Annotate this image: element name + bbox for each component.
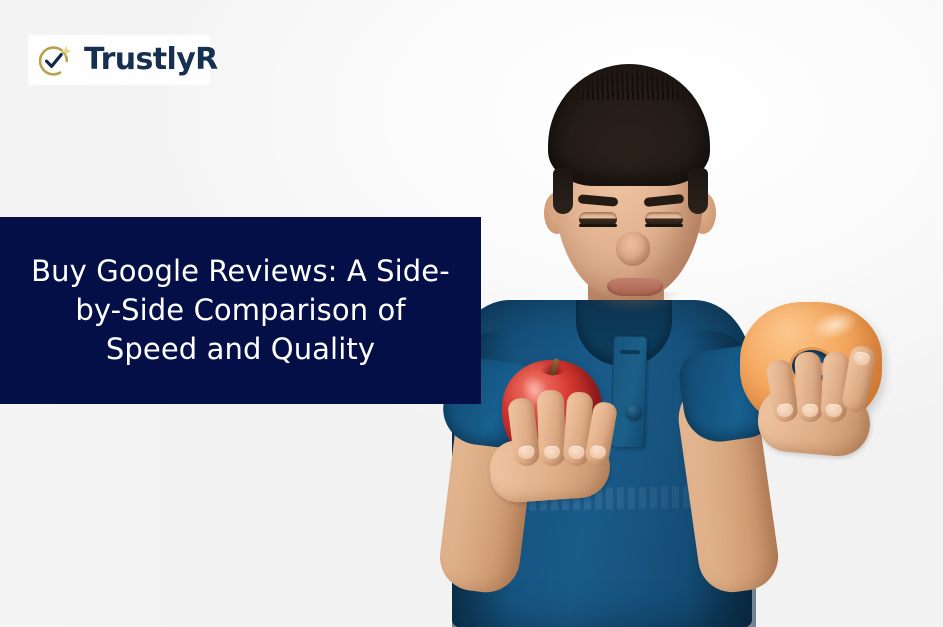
- sideburn-left: [553, 168, 573, 214]
- nose: [616, 232, 650, 266]
- fingernail: [544, 446, 560, 460]
- brand-logo[interactable]: TrustlyR: [30, 35, 224, 85]
- sideburn-right: [688, 168, 708, 214]
- finger-left-2: [537, 390, 567, 467]
- fingernail: [802, 404, 819, 418]
- title-card: Buy Google Reviews: A Side-by-Side Compa…: [0, 217, 481, 404]
- page-title: Buy Google Reviews: A Side-by-Side Compa…: [0, 252, 481, 369]
- fingernail: [776, 403, 794, 418]
- logo-wordmark: TrustlyR: [84, 45, 218, 75]
- blog-banner: TrustlyR Buy Google Reviews: A Side-by-S…: [0, 0, 943, 627]
- chin-shading: [584, 292, 682, 314]
- fingernail: [825, 404, 842, 418]
- fingernail: [518, 445, 535, 460]
- eyelash-right: [645, 224, 683, 227]
- shirt-button: [626, 404, 642, 420]
- fingernail: [589, 444, 607, 460]
- fingernail: [853, 351, 871, 367]
- hair-spikes: [552, 56, 710, 100]
- eyelash-left: [579, 224, 617, 227]
- finger-right-2: [794, 351, 824, 422]
- shirt-placket: [611, 336, 648, 449]
- fingernail: [568, 445, 585, 459]
- check-circle-sparkle-icon: [36, 41, 74, 79]
